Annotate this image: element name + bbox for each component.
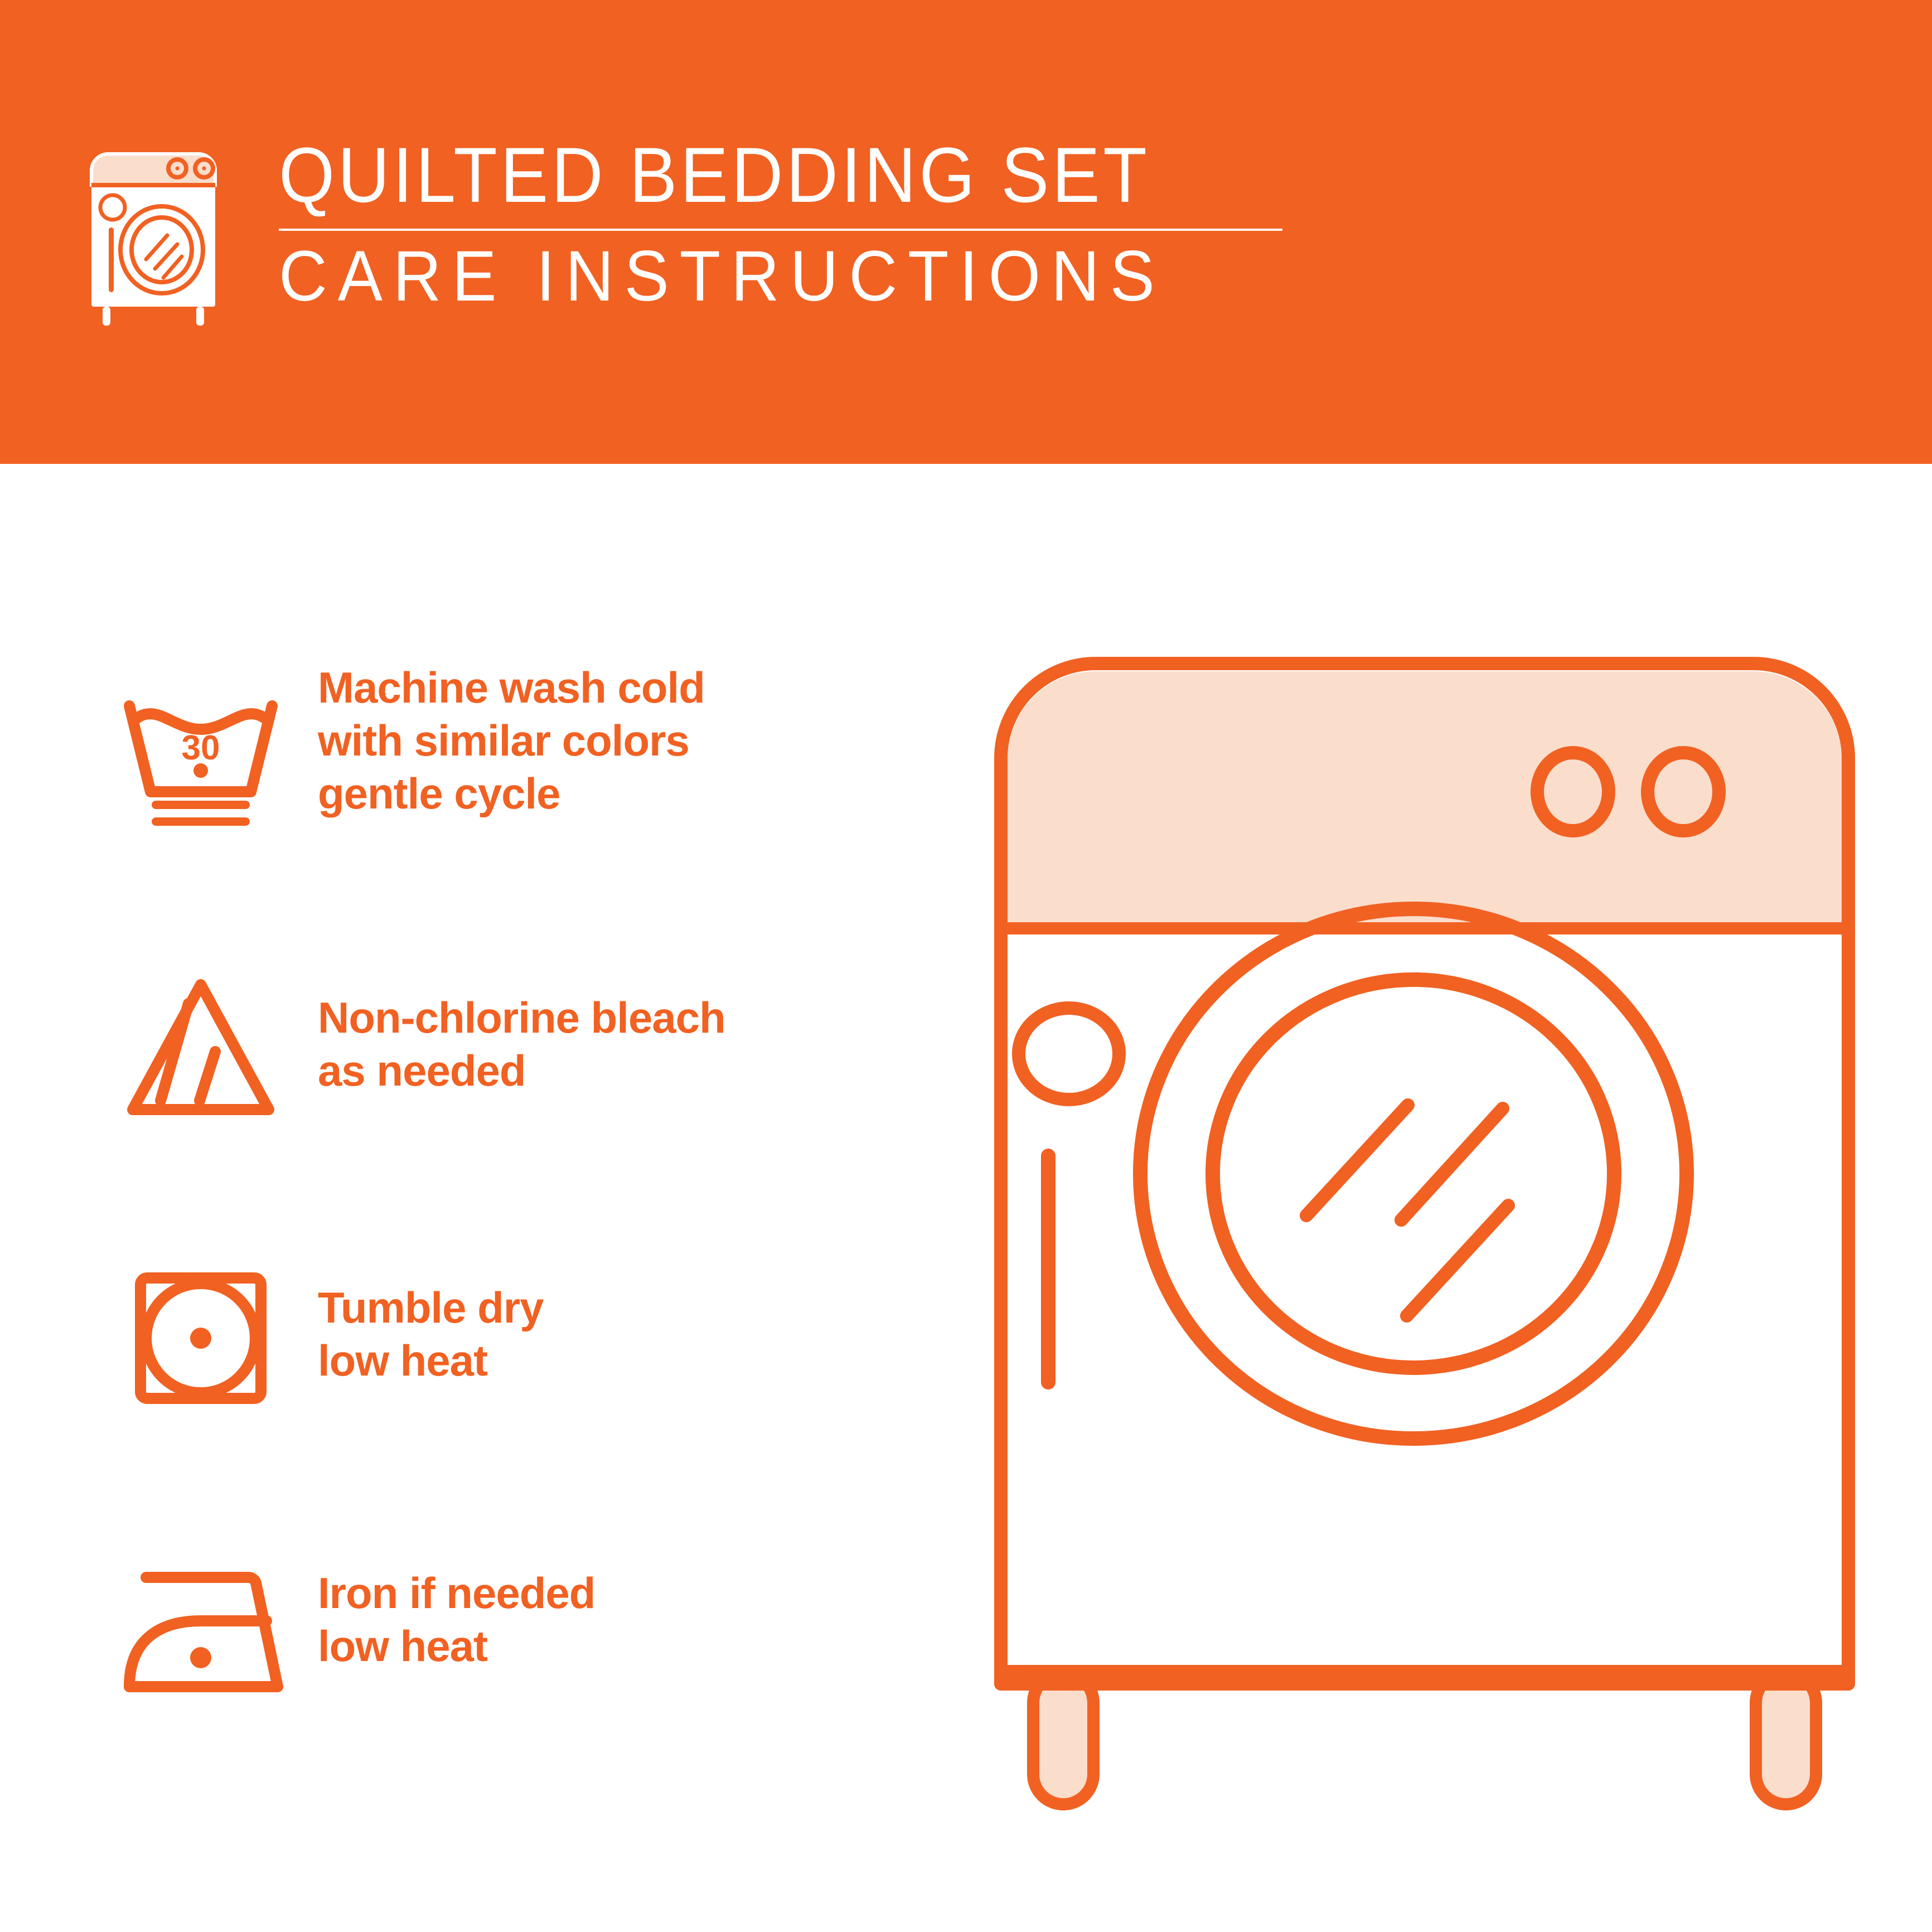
list-item-label: Non-chlorine bleach as needed: [318, 948, 892, 1097]
instruction-line: with similar colors: [318, 714, 892, 767]
instruction-line: gentle cycle: [318, 767, 892, 820]
list-item: 30 Machine wash cold with similar colors…: [84, 658, 892, 948]
bleach-triangle-icon: [84, 948, 318, 1149]
header-title-block: QUILTED BEDDING SET CARE INSTRUCTIONS: [279, 134, 1338, 314]
header-content: QUILTED BEDDING SET CARE INSTRUCTIONS: [84, 134, 1338, 357]
washing-machine-icon: [84, 145, 229, 329]
instruction-line: Non-chlorine bleach: [318, 991, 892, 1044]
page-title: QUILTED BEDDING SET: [279, 134, 1253, 216]
title-divider: [279, 229, 1282, 231]
list-item: Iron if needed low heat: [84, 1528, 892, 1818]
page-subtitle: CARE INSTRUCTIONS: [279, 239, 1275, 314]
large-washing-machine-illustration: [967, 630, 1882, 1829]
tumble-dry-icon: [84, 1238, 318, 1439]
iron-icon: [84, 1528, 318, 1728]
instruction-line: Machine wash cold: [318, 661, 892, 714]
instruction-line: Tumble dry: [318, 1281, 892, 1334]
instruction-line: as needed: [318, 1044, 892, 1097]
instruction-line: low heat: [318, 1334, 892, 1387]
list-item: Tumble dry low heat: [84, 1238, 892, 1528]
list-item-label: Tumble dry low heat: [318, 1238, 892, 1387]
wash-tub-30-icon: 30: [84, 658, 318, 859]
wash-temperature-value: 30: [182, 729, 220, 767]
list-item-label: Iron if needed low heat: [318, 1528, 892, 1673]
instruction-line: low heat: [318, 1620, 892, 1673]
list-item: Non-chlorine bleach as needed: [84, 948, 892, 1238]
instruction-line: Iron if needed: [318, 1567, 892, 1620]
care-instructions-list: 30 Machine wash cold with similar colors…: [84, 658, 892, 1818]
header-band: QUILTED BEDDING SET CARE INSTRUCTIONS: [0, 0, 1932, 464]
list-item-label: Machine wash cold with similar colors ge…: [318, 658, 892, 820]
